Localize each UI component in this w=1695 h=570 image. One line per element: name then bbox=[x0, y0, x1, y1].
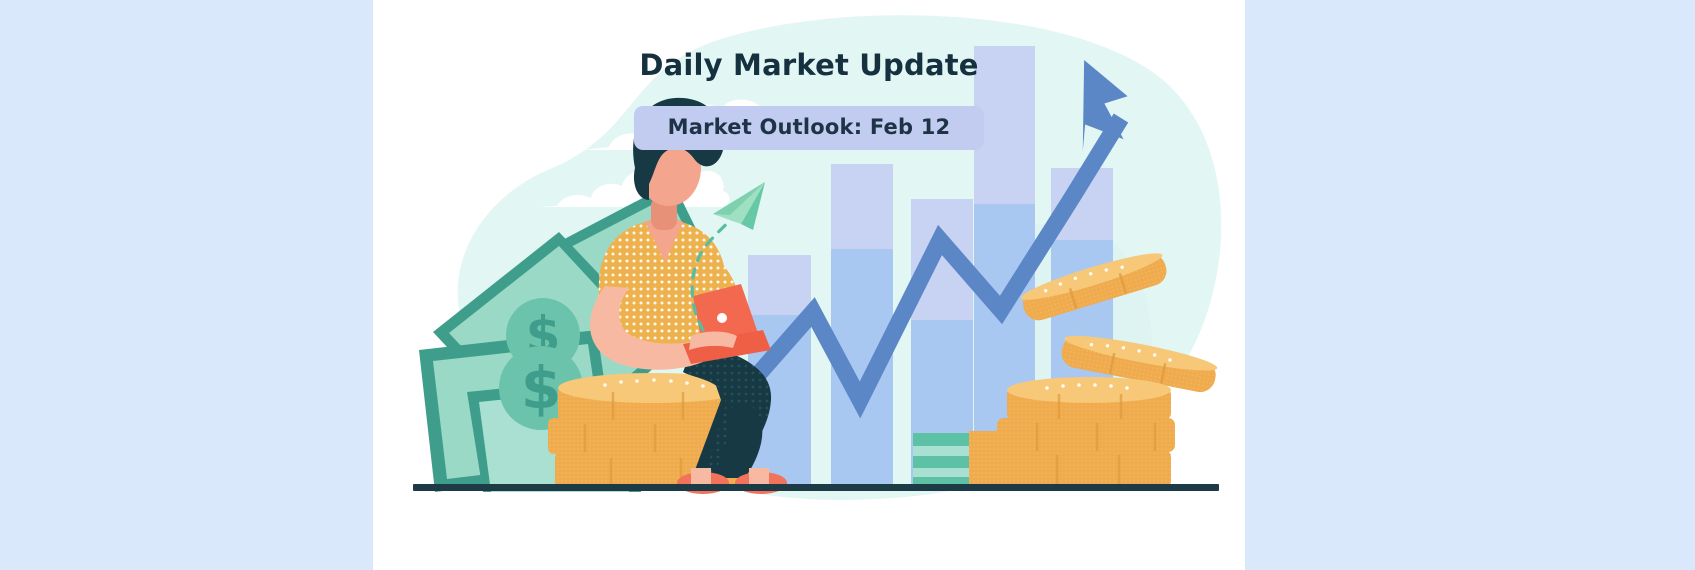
screenshot-root: Daily Market Update Market Outlook: Feb … bbox=[0, 0, 1695, 570]
market-update-card: Daily Market Update Market Outlook: Feb … bbox=[373, 0, 1245, 570]
market-outlook-badge[interactable]: Market Outlook: Feb 12 bbox=[634, 106, 985, 150]
paper-plane-icon bbox=[713, 182, 765, 230]
market-outlook-badge-wrap: Market Outlook: Feb 12 bbox=[373, 106, 1245, 150]
ground-line bbox=[413, 484, 1219, 491]
page-title: Daily Market Update bbox=[373, 48, 1245, 82]
